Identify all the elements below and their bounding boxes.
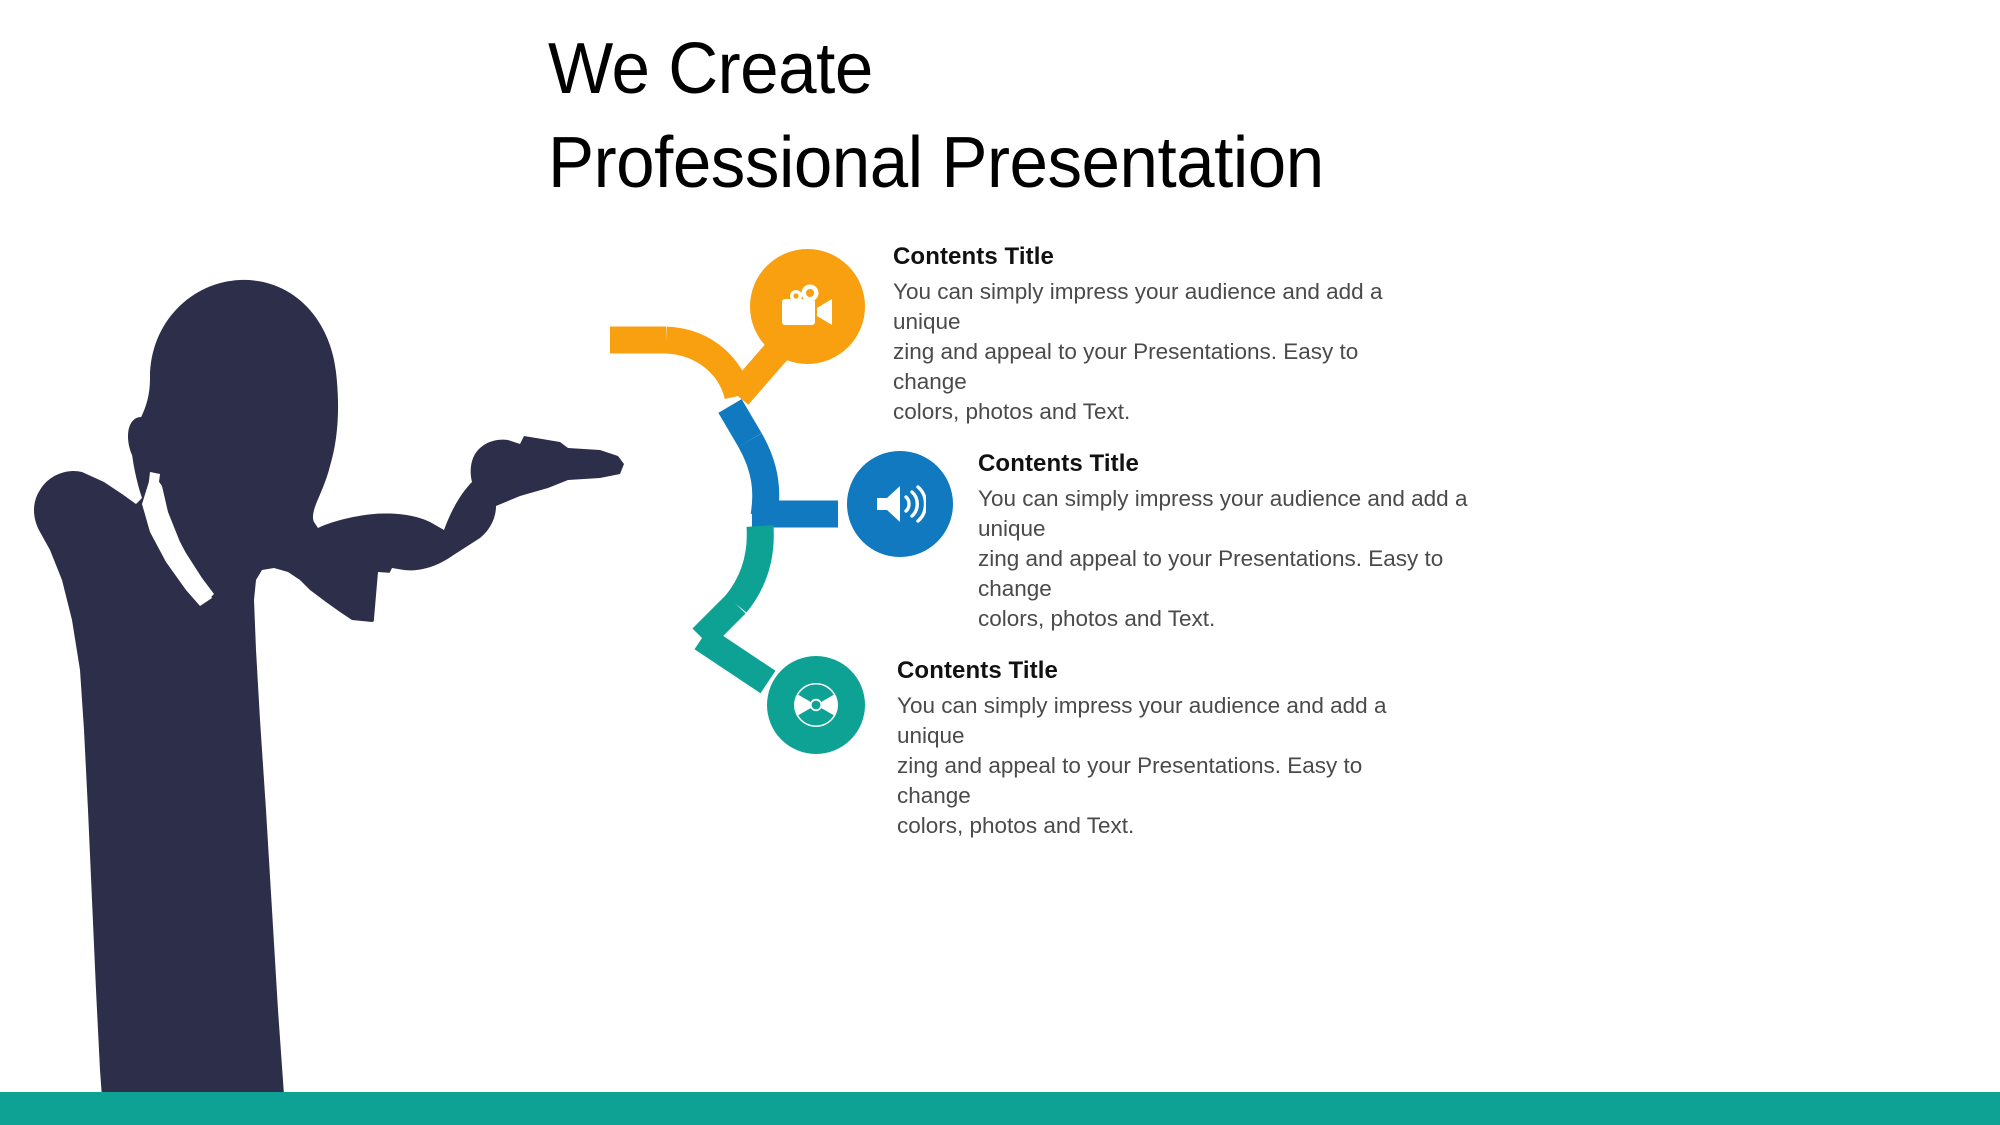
radiation-hazard-icon	[793, 682, 839, 728]
content-block-3: Contents Title You can simply impress yo…	[897, 657, 1427, 841]
content-block-1: Contents Title You can simply impress yo…	[893, 243, 1423, 427]
speaker-volume-icon-circle[interactable]	[847, 451, 953, 557]
content-block-2-body: You can simply impress your audience and…	[978, 484, 1508, 634]
content-block-2-title: Contents Title	[978, 450, 1508, 478]
page-title: We Create Professional Presentation	[548, 22, 1748, 210]
content-block-3-body: You can simply impress your audience and…	[897, 691, 1427, 841]
title-line-1: We Create	[548, 22, 1700, 116]
businessman-aiming-handgun-silhouette	[0, 250, 720, 1125]
radiation-hazard-icon-circle[interactable]	[767, 656, 865, 754]
video-camera-icon-circle[interactable]	[750, 249, 865, 364]
video-camera-icon	[781, 284, 835, 330]
footer-accent-bar	[0, 1092, 2000, 1125]
presentation-slide: We Create Professional Presentation	[0, 0, 2000, 1125]
speaker-volume-icon	[874, 481, 926, 527]
content-block-1-title: Contents Title	[893, 243, 1423, 271]
content-block-2: Contents Title You can simply impress yo…	[978, 450, 1508, 634]
content-block-3-title: Contents Title	[897, 657, 1427, 685]
title-line-2: Professional Presentation	[548, 116, 1700, 210]
content-block-1-body: You can simply impress your audience and…	[893, 277, 1423, 427]
